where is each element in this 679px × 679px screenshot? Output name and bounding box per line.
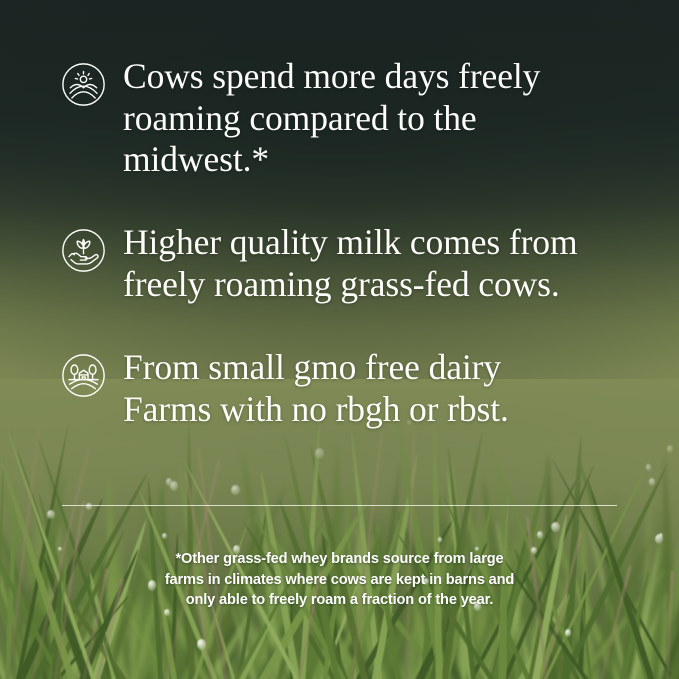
- section-divider: [62, 505, 617, 506]
- sunrise-over-field-icon: [61, 62, 106, 107]
- footnote-disclaimer: *Other grass-fed whey brands source from…: [0, 549, 679, 611]
- product-benefits-graphic: Cows spend more days freely roaming comp…: [0, 0, 679, 679]
- feature-text: From small gmo free dairy Farms with no …: [123, 347, 509, 430]
- feature-text: Higher quality milk comes from freely ro…: [123, 222, 577, 305]
- farm-barn-with-trees-icon: [61, 353, 106, 398]
- feature-item-quality-milk: Higher quality milk comes from freely ro…: [61, 222, 629, 305]
- hand-holding-sprout-icon: [61, 228, 106, 273]
- feature-text: Cows spend more days freely roaming comp…: [123, 56, 540, 181]
- feature-item-free-roaming: Cows spend more days freely roaming comp…: [61, 56, 621, 181]
- content-layer: Cows spend more days freely roaming comp…: [0, 0, 679, 679]
- feature-item-small-farms: From small gmo free dairy Farms with no …: [61, 347, 621, 430]
